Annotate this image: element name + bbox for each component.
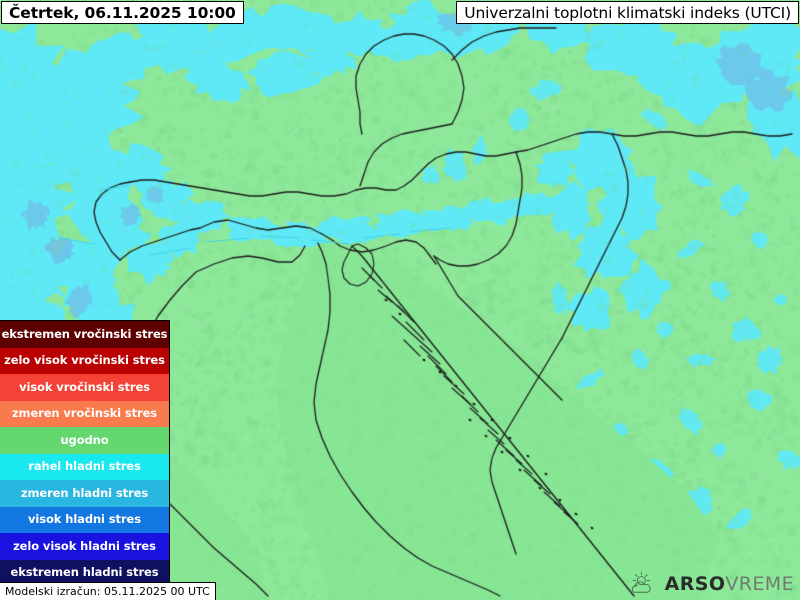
legend-row-label: ugodno (60, 435, 108, 447)
legend-row: visok hladni stres (0, 507, 169, 534)
legend-row: zelo visok hladni stres (0, 533, 169, 560)
legend-row: zelo visok vročinski stres (0, 348, 169, 375)
legend-row-label: rahel hladni stres (28, 461, 140, 473)
model-run-footer: Modelski izračun: 05.11.2025 00 UTC (0, 582, 216, 600)
legend-row: zmeren vročinski stres (0, 401, 169, 428)
legend-row-label: zmeren hladni stres (21, 488, 148, 500)
legend-row: zmeren hladni stres (0, 480, 169, 507)
model-run-text: Modelski izračun: 05.11.2025 00 UTC (5, 585, 210, 598)
map-date-title-text: Četrtek, 06.11.2025 10:00 (9, 4, 236, 22)
map-date-title: Četrtek, 06.11.2025 10:00 (1, 1, 244, 24)
legend-row-label: zelo visok vročinski stres (4, 355, 165, 367)
utci-weather-map-screenshot: Četrtek, 06.11.2025 10:00 Univerzalni to… (0, 0, 800, 600)
map-product-title: Univerzalni toplotni klimatski indeks (U… (456, 1, 799, 24)
legend-row: rahel hladni stres (0, 454, 169, 481)
legend-row-label: ekstremen vročinski stres (2, 329, 168, 341)
legend-row: ekstremen vročinski stres (0, 321, 169, 348)
map-product-title-text: Univerzalni toplotni klimatski indeks (U… (464, 4, 791, 22)
legend-row-label: visok hladni stres (28, 514, 141, 526)
legend-row-label: zmeren vročinski stres (12, 408, 157, 420)
legend-row: visok vročinski stres (0, 374, 169, 401)
legend-row-label: zelo visok hladni stres (13, 541, 156, 553)
legend-row: ugodno (0, 427, 169, 454)
legend-row-label: ekstremen hladni stres (11, 567, 159, 579)
legend-row-label: visok vročinski stres (19, 382, 150, 394)
utci-legend: ekstremen vročinski streszelo visok vroč… (0, 320, 170, 587)
